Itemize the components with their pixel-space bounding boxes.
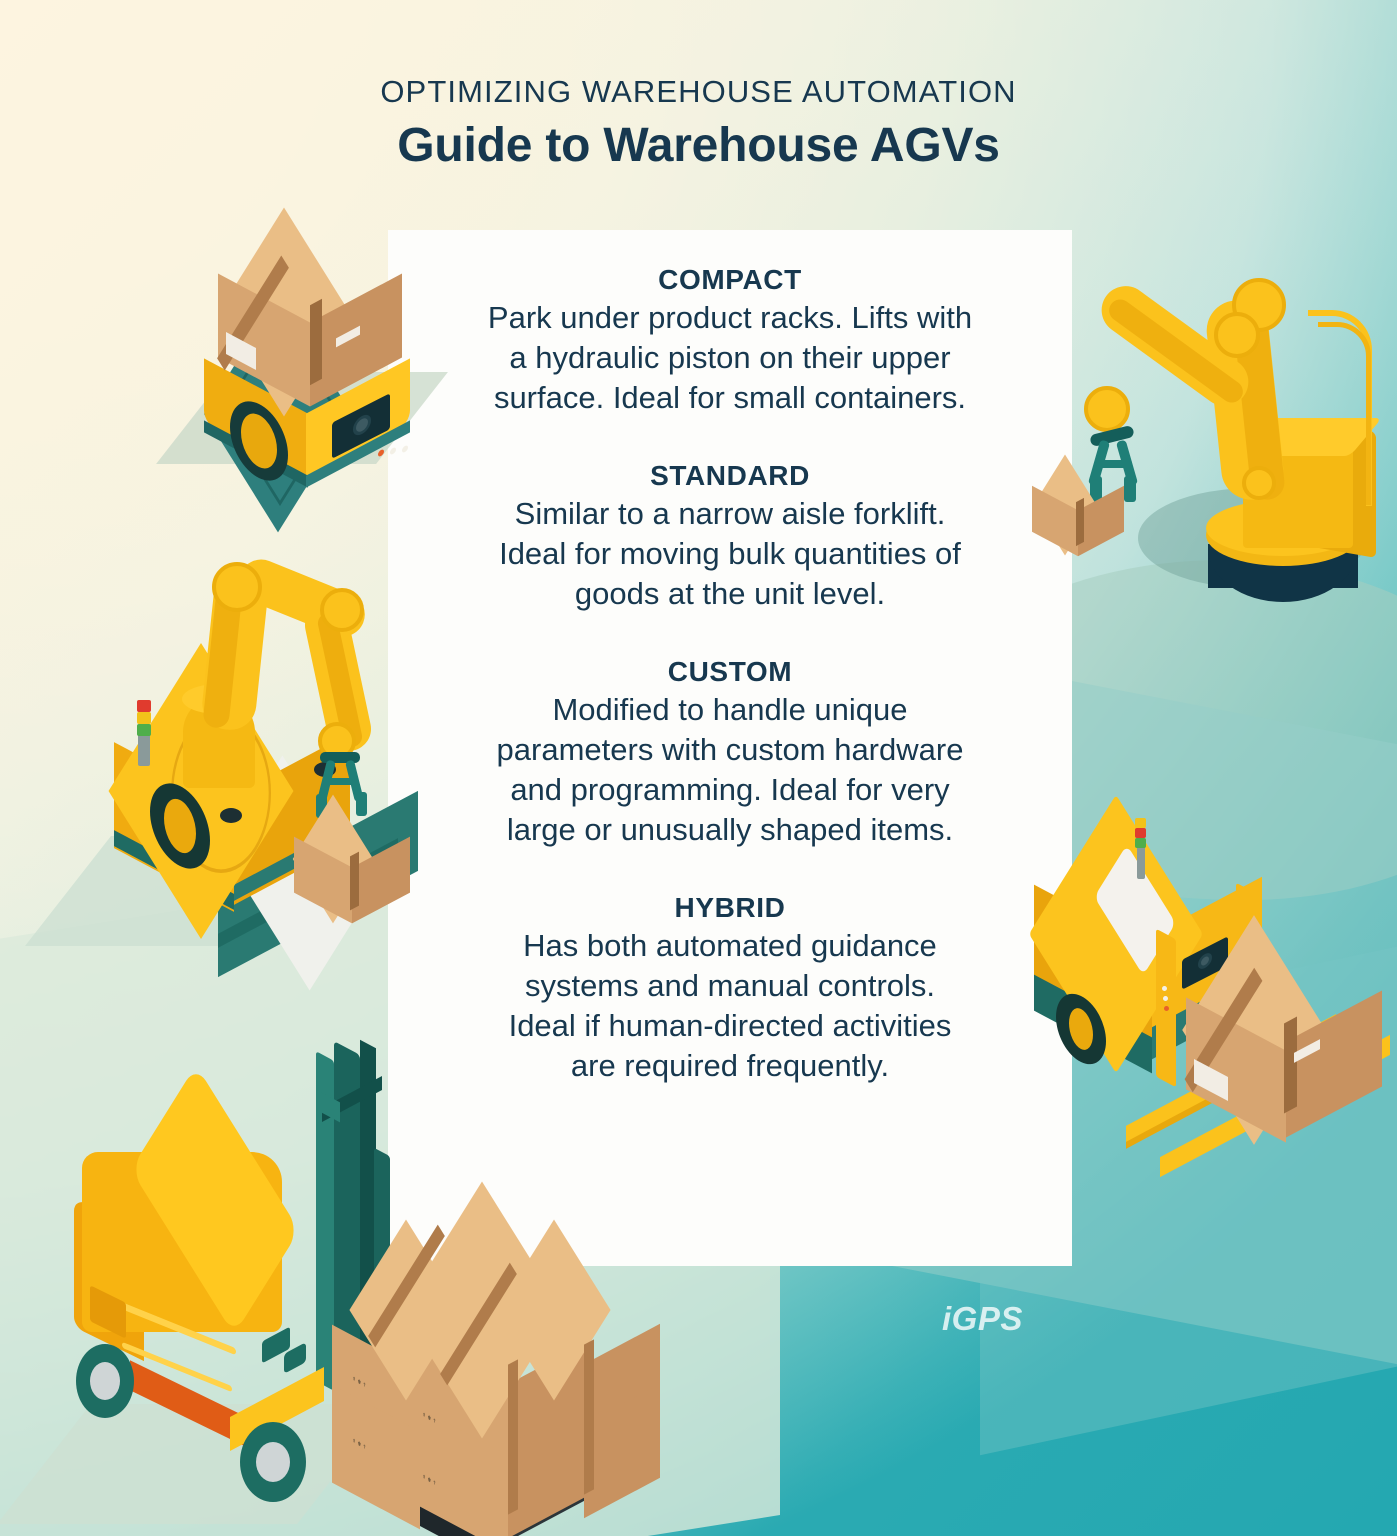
section-custom: CUSTOM Modified to handle unique paramet… xyxy=(388,656,1072,850)
robot-arm-cable-inner xyxy=(1318,322,1371,505)
forklift-rear-hub xyxy=(256,1442,290,1482)
section-body-hybrid: Has both automated guidance systems and … xyxy=(406,926,1054,1086)
igps-logo: iGPS xyxy=(942,1300,1023,1338)
section-body-custom: Modified to handle unique parameters wit… xyxy=(406,690,1054,850)
hybrid-agv-led xyxy=(1162,986,1167,991)
hybrid-agv-signal-light-yellow xyxy=(1135,818,1146,828)
carton-tape xyxy=(508,1413,518,1514)
forklift-front-hub xyxy=(90,1362,120,1400)
robot-arm-joint-hip xyxy=(1242,466,1276,500)
page-title: Guide to Warehouse AGVs xyxy=(0,118,1397,173)
robot-arm-joint-elbow xyxy=(1214,312,1260,358)
infographic-canvas: OPTIMIZING WAREHOUSE AUTOMATION Guide to… xyxy=(0,0,1397,1536)
section-standard: STANDARD Similar to a narrow aisle forkl… xyxy=(388,460,1072,614)
section-title-compact: COMPACT xyxy=(406,264,1054,296)
section-title-standard: STANDARD xyxy=(406,460,1054,492)
carton-tape xyxy=(584,1339,594,1400)
custom-agv-gripper-claw xyxy=(356,792,367,816)
custom-agv-illustration xyxy=(68,556,408,986)
custom-agv-signal-tower-pole xyxy=(138,732,150,766)
eyebrow-text: OPTIMIZING WAREHOUSE AUTOMATION xyxy=(0,74,1397,110)
section-title-hybrid: HYBRID xyxy=(406,892,1054,924)
hybrid-agv-led xyxy=(1163,996,1168,1001)
custom-agv-signal-light-yellow xyxy=(137,712,151,724)
robot-arm-gripper-bar xyxy=(1096,460,1132,468)
robot-arm-illustration xyxy=(1018,248,1397,648)
custom-agv-arm-joint-shoulder xyxy=(212,562,262,612)
section-hybrid: HYBRID Has both automated guidance syste… xyxy=(388,892,1072,1086)
custom-agv-carton-tape xyxy=(350,852,359,911)
custom-agv-arm-joint-elbow xyxy=(320,588,364,632)
robot-arm-carton-tape xyxy=(1076,498,1084,546)
sections-container: COMPACT Park under product racks. Lifts … xyxy=(388,230,1072,1266)
section-compact: COMPACT Park under product racks. Lifts … xyxy=(388,264,1072,418)
hybrid-agv-carton-tape xyxy=(1284,1017,1297,1114)
carton-tape xyxy=(584,1393,594,1494)
section-title-custom: CUSTOM xyxy=(406,656,1054,688)
hybrid-agv-led xyxy=(1164,1006,1169,1011)
custom-agv-signal-light-red xyxy=(137,700,151,712)
section-body-compact: Park under product racks. Lifts with a h… xyxy=(406,298,1054,418)
robot-arm-joint-wrist xyxy=(1084,386,1130,432)
section-body-standard: Similar to a narrow aisle forklift. Idea… xyxy=(406,494,1054,614)
hybrid-agv-signal-light-red xyxy=(1135,828,1146,838)
robot-arm-gripper-claw xyxy=(1124,476,1136,502)
hybrid-agv-signal-light-green xyxy=(1135,838,1146,848)
carton-tape xyxy=(508,1359,518,1420)
compact-agv-carton-tape xyxy=(310,299,322,385)
custom-agv-knob xyxy=(220,808,242,823)
custom-agv-gripper-bar xyxy=(324,778,358,785)
custom-agv-signal-light-green xyxy=(137,724,151,736)
